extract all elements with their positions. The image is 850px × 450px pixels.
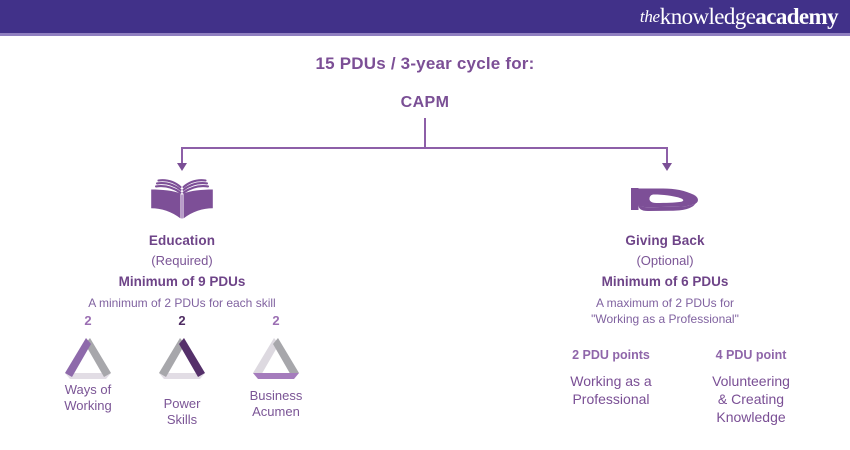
skill-pdu-power-skills: 2 [142,312,222,330]
branch-minimum-giving-back: Minimum of 6 PDUs [525,274,805,289]
skill-label-line2: Skills [142,412,222,428]
giving-back-desc-line1: Volunteering [688,372,814,390]
diagram-canvas: the knowledge academy 15 PDUs / 3-year c… [0,0,850,450]
branch-minimum-education: Minimum of 9 PDUs [42,274,322,289]
skill-power-skills: 2 Power Skills [142,312,222,429]
branch-note-education: A minimum of 2 PDUs for each skill [42,295,322,311]
triangle-ways-of-working-icon [48,334,128,382]
branch-title-giving-back: Giving Back [525,233,805,248]
arrow-head-left-icon [177,163,187,171]
skill-label-line1: Power [142,396,222,412]
branch-requirement-education: (Required) [42,253,322,268]
triangle-power-skills-icon [142,334,222,382]
skill-label-ways-of-working: Ways of Working [48,382,128,415]
connector-stem [424,118,426,148]
triangle-business-acumen-icon [236,334,316,382]
giving-back-items-row: 2 PDU points Working as a Professional 4… [548,348,814,427]
branch-education: Education (Required) Minimum of 9 PDUs A… [42,178,322,311]
skill-label-business-acumen: Business Acumen [236,388,316,421]
branch-note-giving-back-line1: A maximum of 2 PDUs for [525,295,805,311]
skill-pdu-business-acumen: 2 [236,312,316,330]
giving-hand-icon [525,178,805,222]
giving-back-desc-line3: Knowledge [688,408,814,426]
logo-text-knowledge: knowledge [660,4,756,30]
giving-back-item-working-as-a-professional: 2 PDU points Working as a Professional [548,348,674,427]
page-title: 15 PDUs / 3-year cycle for: [0,54,850,74]
giving-back-desc-line1: Working as a [548,372,674,390]
branch-note-giving-back-line2: "Working as a Professional" [525,311,805,327]
skill-label-line1: Ways of [48,382,128,398]
skill-ways-of-working: 2 Ways of Working [48,312,128,415]
brand-logo: the knowledge academy [640,1,838,33]
giving-back-points-2: 4 PDU point [688,348,814,362]
skill-business-acumen: 2 Business Acumen [236,312,316,421]
branch-title-education: Education [42,233,322,248]
skill-label-power-skills: Power Skills [142,396,222,429]
skill-label-line2: Acumen [236,404,316,420]
certification-label: CAPM [0,94,850,112]
branch-giving-back: Giving Back (Optional) Minimum of 6 PDUs… [525,178,805,327]
skill-label-line1: Business [236,388,316,404]
skill-pdu-ways-of-working: 2 [48,312,128,330]
branch-requirement-giving-back: (Optional) [525,253,805,268]
giving-back-desc-2: Volunteering & Creating Knowledge [688,372,814,427]
connector-horizontal [181,147,668,149]
arrow-head-right-icon [662,163,672,171]
header-underline [0,33,850,36]
giving-back-desc-1: Working as a Professional [548,372,674,408]
giving-back-desc-line2: Professional [548,390,674,408]
skills-row: 2 Ways of Working 2 [48,312,316,429]
giving-back-item-volunteering-creating-knowledge: 4 PDU point Volunteering & Creating Know… [688,348,814,427]
skill-label-line2: Working [48,398,128,414]
giving-back-points-1: 2 PDU points [548,348,674,362]
open-book-icon [42,178,322,222]
giving-back-desc-line2: & Creating [688,390,814,408]
logo-text-the: the [640,7,660,27]
logo-text-academy: academy [755,4,838,30]
branch-note-giving-back: A maximum of 2 PDUs for "Working as a Pr… [525,295,805,327]
